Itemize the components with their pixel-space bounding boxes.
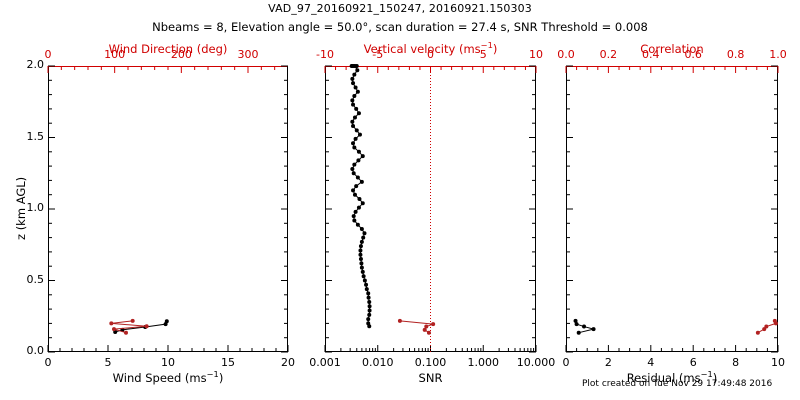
vertical-velocity-tick--10: -10 [295, 48, 355, 61]
figure-title: VAD_97_20160921_150247, 20160921.150303 [0, 2, 800, 15]
wind-speed-tick-5: 5 [78, 356, 138, 369]
series-residual [574, 319, 596, 335]
wind-direction-tick-200: 200 [151, 48, 211, 61]
wind-speed-axis-title-exponent: −1 [207, 369, 219, 379]
y-tick-0.5: 0.5 [6, 273, 44, 286]
snr-panel [325, 66, 536, 352]
series-correlation [756, 319, 778, 335]
wind-speed-axis-title-main: Wind Speed (ms [113, 371, 207, 385]
snr-tick-0.010: 0.010 [348, 356, 408, 369]
wind-speed-axis-title-tail: ) [219, 371, 224, 385]
wind-speed-tick-10: 10 [138, 356, 198, 369]
wind-speed-tick-15: 15 [198, 356, 258, 369]
snr-panel-canvas [325, 66, 536, 352]
correlation-tick-1.0: 1.0 [748, 48, 800, 61]
vertical-velocity-tick--5: -5 [348, 48, 408, 61]
correlation-panel [566, 66, 778, 352]
wind-direction-tick-0: 0 [18, 48, 78, 61]
wind-panel [48, 66, 288, 352]
residual-tick-10: 10 [748, 356, 800, 369]
snr-tick-0.001: 0.001 [295, 356, 355, 369]
vertical-velocity-tick-0: 0 [401, 48, 461, 61]
wind-panel-canvas [48, 66, 288, 352]
snr-tick-0.100: 0.100 [401, 356, 461, 369]
series-snr [350, 64, 372, 328]
wind-speed-axis-title: Wind Speed (ms−1) [48, 371, 288, 385]
figure-subtitle: Nbeams = 8, Elevation angle = 50.0°, sca… [0, 20, 800, 34]
y-tick-1.5: 1.5 [6, 130, 44, 143]
correlation-panel-canvas [566, 66, 778, 352]
vertical-velocity-tick-5: 5 [453, 48, 513, 61]
plot-figure: VAD_97_20160921_150247, 20160921.150303 … [0, 0, 800, 400]
plot-created-footer: Plot created on Tue Nov 29 17:49:48 2016 [582, 379, 772, 389]
residual-axis-title-exponent: −1 [701, 369, 713, 379]
wind-direction-tick-100: 100 [85, 48, 145, 61]
wind-direction-tick-300: 300 [218, 48, 278, 61]
snr-axis-title: SNR [325, 371, 536, 385]
wind-speed-tick-0: 0 [18, 356, 78, 369]
y-tick-1.0: 1.0 [6, 201, 44, 214]
series-vertical-velocity [398, 319, 435, 335]
snr-tick-1.000: 1.000 [453, 356, 513, 369]
